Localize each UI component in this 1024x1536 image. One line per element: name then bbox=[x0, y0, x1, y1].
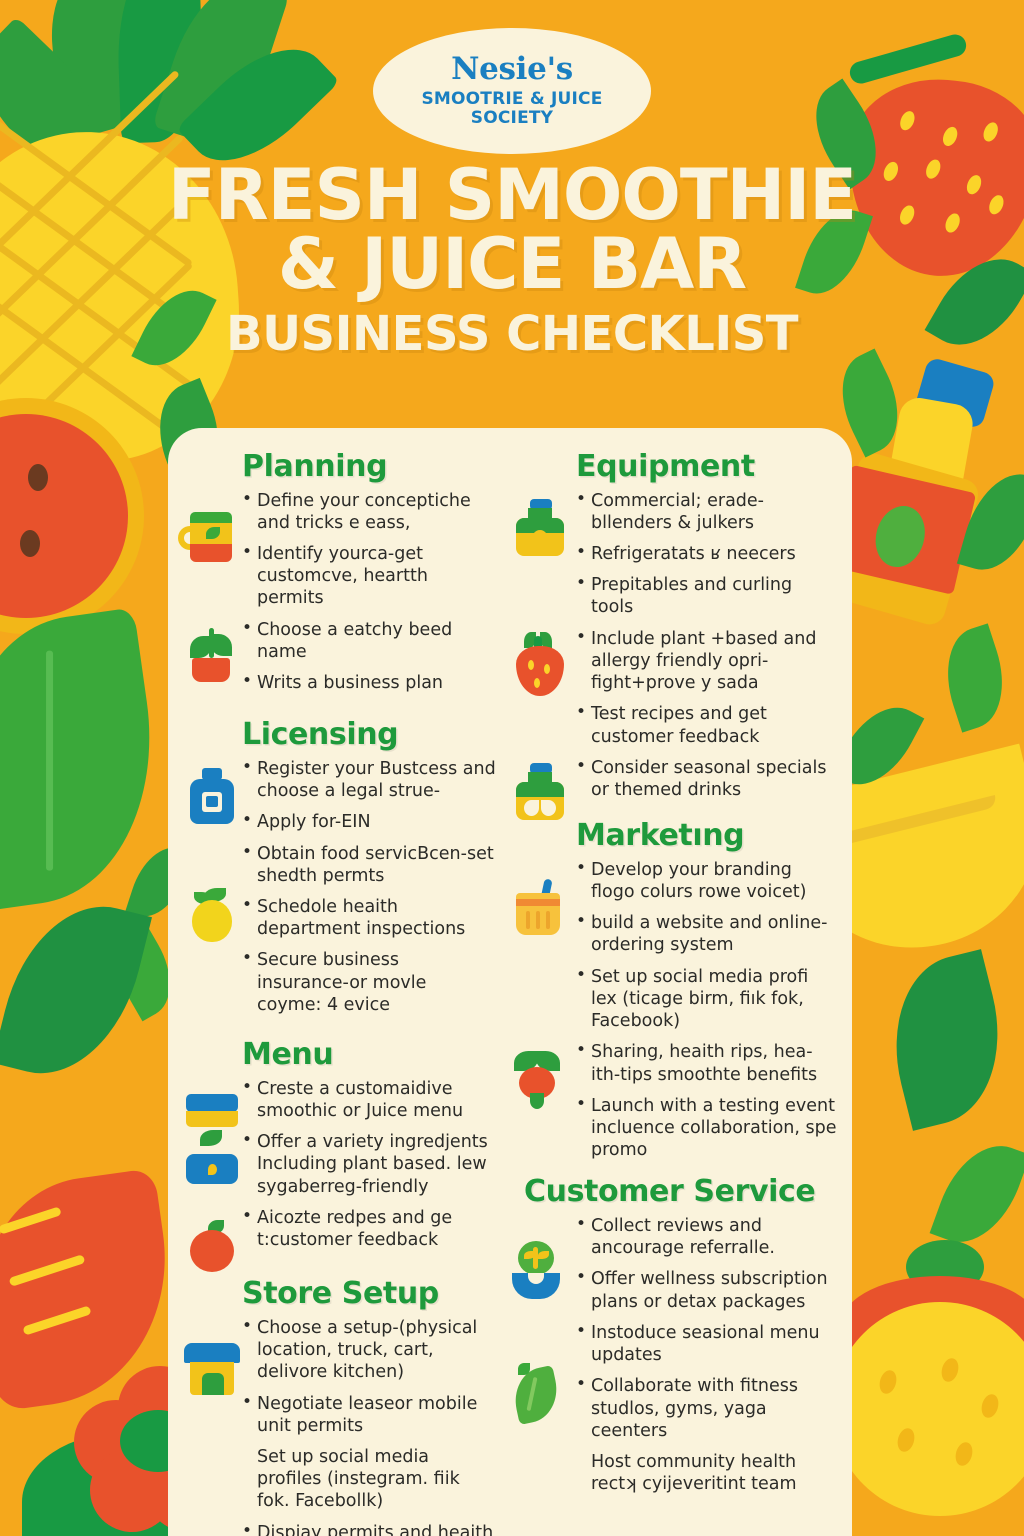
list-item: Prepitables and curling tools bbox=[576, 574, 838, 618]
section-marketing: Marketıng Develop your branding flogo co… bbox=[516, 819, 842, 1161]
leaf-icon bbox=[874, 949, 1019, 1131]
list-item: Negotiate leaseor mobile unit permits bbox=[242, 1393, 496, 1437]
title-line-2: & JUICE BAR bbox=[0, 231, 1024, 298]
pineapple-frond-icon bbox=[152, 0, 290, 154]
heading-menu: Menu bbox=[242, 1038, 500, 1072]
list-item: Develop your branding flogo colurs rowe … bbox=[576, 859, 838, 903]
list-item: Writs a business plan bbox=[242, 672, 496, 694]
list-item: Offer wellness subscription plans or det… bbox=[576, 1268, 838, 1312]
tomato-icon bbox=[182, 1214, 240, 1272]
list-item: Instoduce seasional menu updates bbox=[576, 1322, 838, 1366]
list-item: Include plant +based and allergy friendl… bbox=[576, 628, 838, 695]
blender-bottle-icon bbox=[510, 498, 568, 556]
list-item: Apply for-EIN bbox=[242, 811, 496, 833]
list-item: Set up social media profiles (instegram.… bbox=[242, 1446, 496, 1513]
checklist-panel: Planning Define your conceptiche and tri… bbox=[168, 428, 852, 1536]
list-item: Launch with a testing event incluence co… bbox=[576, 1095, 838, 1162]
title-line-1: FRESH SMOOTHIE bbox=[0, 162, 1024, 229]
list-item: Choose a setup-(physical location, truck… bbox=[242, 1317, 496, 1384]
watermelon-icon bbox=[0, 398, 144, 634]
list-item: Schedole heaith department inspections bbox=[242, 896, 496, 940]
section-customer-service: Customer Service Collect reviews and anc… bbox=[516, 1175, 842, 1495]
list-customer-service: Collect reviews and ancourage referralle… bbox=[576, 1215, 838, 1495]
leaf-icon bbox=[933, 623, 1018, 732]
orange-fruit-icon bbox=[832, 1302, 1024, 1516]
brand-name: Nesie's bbox=[451, 54, 573, 85]
potted-plant-icon bbox=[182, 626, 240, 684]
leaf-icon bbox=[957, 463, 1024, 580]
section-planning: Planning Define your conceptiche and tri… bbox=[180, 450, 500, 694]
smoothie-cup-icon bbox=[508, 877, 566, 935]
list-item: Choose a eatchy beed name bbox=[242, 619, 496, 663]
list-item: Refrigeratats ʁ neecers bbox=[576, 543, 838, 565]
list-planning: Define your conceptiche and tricks e eas… bbox=[242, 490, 496, 695]
left-column: Planning Define your conceptiche and tri… bbox=[168, 450, 510, 1536]
section-licensing: Licensing Register your Bustcess and cho… bbox=[180, 718, 500, 1016]
wellness-bowl-icon bbox=[506, 1239, 564, 1297]
list-item: Dispiay permits and heaith certificates … bbox=[242, 1522, 496, 1536]
store-house-icon bbox=[182, 1337, 240, 1395]
heading-planning: Planning bbox=[242, 450, 500, 484]
poster-title: FRESH SMOOTHIE & JUICE BAR BUSINESS CHEC… bbox=[0, 162, 1024, 358]
list-item: Consider seasonal specials or themed dri… bbox=[576, 757, 838, 801]
heading-equipment: Equipment bbox=[576, 450, 842, 484]
strawberry-icon bbox=[512, 632, 570, 702]
list-item: build a website and online-ordering syst… bbox=[576, 912, 838, 956]
seed-jar-icon bbox=[510, 762, 568, 820]
brand-subtitle-line2: SOCIETY bbox=[471, 109, 553, 128]
list-store-setup: Choose a setup-(physical location, truck… bbox=[242, 1317, 496, 1536]
heading-store-setup: Store Setup bbox=[242, 1277, 500, 1311]
list-item: Collect reviews and ancourage referralle… bbox=[576, 1215, 838, 1259]
section-equipment: Equipment Commercial; erade- bllenders &… bbox=[516, 450, 842, 801]
list-item: Test recipes and get customer feedback bbox=[576, 703, 838, 747]
poster-canvas: Nesie's SMOOTRIE & JUICE SOCIETY FRESH S… bbox=[0, 0, 1024, 1536]
list-menu: Creste a customaidive smoothic or Juice … bbox=[242, 1078, 496, 1252]
title-line-3: BUSINESS CHECKLIST bbox=[0, 310, 1024, 358]
smoothie-mug-icon bbox=[182, 508, 240, 566]
big-leaf-icon bbox=[0, 607, 173, 912]
brand-logo-badge: Nesie's SMOOTRIE & JUICE SOCIETY bbox=[373, 28, 651, 154]
list-item: Aicozte redpes and ge t:customer feedbac… bbox=[242, 1207, 496, 1251]
pineapple-frond-icon bbox=[115, 0, 206, 143]
section-menu: Menu Creste a customaidive smoothic or J… bbox=[180, 1038, 500, 1251]
list-item: Register your Bustcess and choose a lega… bbox=[242, 758, 496, 802]
list-item: Define your conceptiche and tricks e eas… bbox=[242, 490, 496, 534]
heading-customer-service: Customer Service bbox=[524, 1175, 842, 1209]
list-item: Offer a variety ingredjents Including pl… bbox=[242, 1131, 496, 1198]
list-item: Identify yourca-get customcve, heartth p… bbox=[242, 543, 496, 610]
list-item: Secure business insurance-or movle coyme… bbox=[242, 949, 496, 1016]
heading-marketing: Marketıng bbox=[576, 819, 842, 853]
brand-subtitle-line1: SMOOTRIE & JUICE bbox=[421, 90, 602, 109]
list-item: Host community health rectʞ cyijeveritin… bbox=[576, 1451, 838, 1495]
leaf-icon bbox=[930, 1132, 1024, 1257]
list-marketing: Develop your branding flogo colurs rowe … bbox=[576, 859, 838, 1162]
beet-icon bbox=[508, 1049, 566, 1107]
pineapple-frond-icon bbox=[0, 16, 117, 175]
strawberry-stem-icon bbox=[847, 32, 968, 86]
list-item: Set up social media profi lex (ticage bi… bbox=[576, 966, 838, 1033]
menu-tray-icon bbox=[182, 1144, 240, 1202]
pineapple-frond-icon bbox=[32, 0, 165, 140]
list-licensing: Register your Bustcess and choose a lega… bbox=[242, 758, 496, 1016]
list-equipment: Commercial; erade- bllenders & julkers R… bbox=[576, 490, 838, 802]
heading-licensing: Licensing bbox=[242, 718, 500, 752]
pea-pod-icon bbox=[506, 1363, 564, 1421]
list-item: Creste a customaidive smoothic or Juice … bbox=[242, 1078, 496, 1122]
license-bottle-icon bbox=[182, 766, 240, 824]
list-item: Collaborate with fitness studlos, gyms, … bbox=[576, 1375, 838, 1442]
lemon-icon bbox=[182, 884, 240, 942]
list-item: Commercial; erade- bllenders & julkers bbox=[576, 490, 838, 534]
section-store-setup: Store Setup Choose a setup-(physical loc… bbox=[180, 1277, 500, 1536]
list-item: Sharing, heaith rips, hea-ith-tips smoot… bbox=[576, 1041, 838, 1085]
leaf-icon bbox=[0, 888, 152, 1092]
right-column: Equipment Commercial; erade- bllenders &… bbox=[510, 450, 852, 1536]
carrot-icon bbox=[0, 1180, 180, 1440]
list-item: Obtain food servicBcen-set shedth permts bbox=[242, 843, 496, 887]
menu-card-icon bbox=[182, 1090, 240, 1148]
